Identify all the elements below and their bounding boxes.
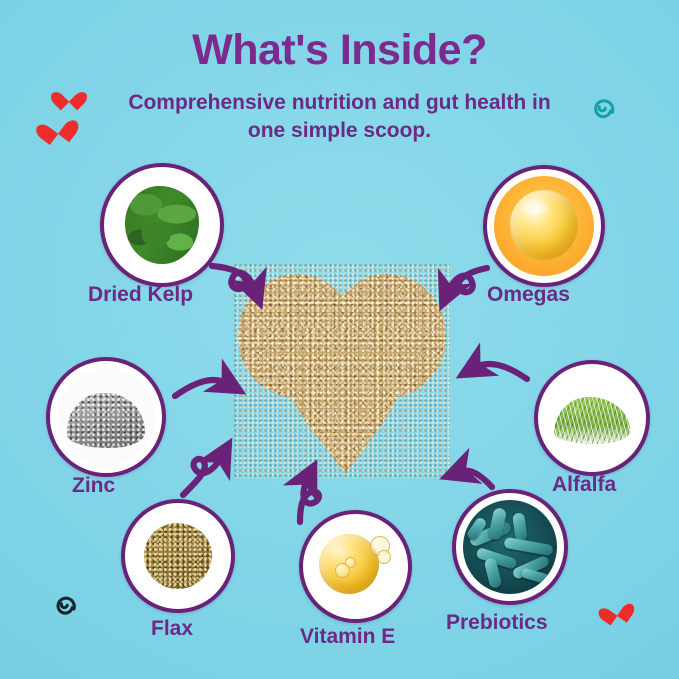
- spiral-icon-top-right: [585, 90, 621, 126]
- center-powder-heart: [238, 268, 446, 474]
- arrow-flax-to-center: [183, 456, 222, 495]
- arrow-omegas-to-center: [448, 268, 487, 292]
- omegas-circle[interactable]: [483, 165, 605, 287]
- alfalfa-label: Alfalfa: [552, 473, 616, 497]
- flax-circle[interactable]: [121, 499, 235, 613]
- vitamin-e-label: Vitamin E: [300, 625, 395, 649]
- prebiotics-circle[interactable]: [452, 489, 568, 605]
- omegas-image: [494, 176, 594, 276]
- arrow-zinc-to-center: [175, 380, 228, 396]
- arrow-prebiotics-to-center: [459, 471, 492, 487]
- zinc-circle[interactable]: [46, 357, 166, 477]
- vitamin-e-image: [310, 521, 401, 612]
- alfalfa-circle[interactable]: [534, 360, 650, 476]
- heart-icon-bottom-right: [602, 596, 629, 622]
- flax-label: Flax: [151, 617, 193, 641]
- alfalfa-image: [545, 371, 639, 465]
- prebiotics-label: Prebiotics: [446, 611, 548, 635]
- heart-icon-top-left-small: [57, 84, 81, 106]
- dried-kelp-circle[interactable]: [100, 163, 224, 287]
- spiral-icon-bottom-left: [48, 588, 82, 622]
- arrow-alfalfa-to-center: [474, 364, 527, 379]
- dried-kelp-image: [111, 174, 213, 276]
- heart-icon-top-left-large: [41, 111, 72, 141]
- infographic-poster: What's Inside? Comprehensive nutrition a…: [0, 0, 679, 679]
- zinc-label: Zinc: [72, 474, 115, 498]
- arrow-vitamin-e-to-center: [300, 478, 319, 522]
- omegas-label: Omegas: [487, 283, 570, 307]
- flax-image: [132, 510, 224, 602]
- zinc-image: [57, 368, 155, 466]
- vitamin-e-circle[interactable]: [299, 510, 412, 623]
- page-subtitle: Comprehensive nutrition and gut health i…: [125, 89, 555, 144]
- page-title: What's Inside?: [0, 26, 679, 75]
- dried-kelp-label: Dried Kelp: [88, 283, 193, 307]
- prebiotics-image: [463, 500, 557, 594]
